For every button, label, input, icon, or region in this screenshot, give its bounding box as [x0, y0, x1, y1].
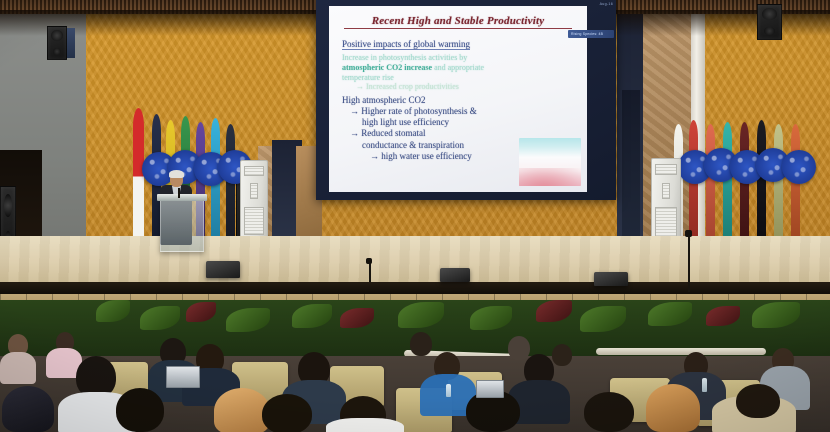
ac-right-grille-bottom — [655, 207, 676, 237]
slide-faded-line-1: Increase in photosynthesis activities by — [342, 53, 467, 62]
water-bottle-1 — [702, 378, 707, 392]
slide-subtitle: Positive impacts of global warming — [342, 39, 470, 50]
attendee-body-1 — [0, 352, 36, 384]
air-conditioner-right — [651, 158, 681, 242]
stage-monitor-center — [440, 268, 470, 282]
presentation-slide: Recent High and Stable Productivity Posi… — [329, 6, 587, 192]
right-dark-inset — [622, 90, 640, 236]
slide-highlight-co2: atmospheric CO2 increase — [342, 63, 432, 72]
podium — [160, 198, 204, 252]
auditorium-photo: Aug-16 Recent High and Stable Productivi… — [0, 0, 830, 432]
planter-curb-right — [596, 348, 766, 355]
attendee-head-15 — [262, 394, 312, 432]
attendee-laptop-2 — [476, 380, 504, 398]
slide-tag-label: Rising Species: 4B — [568, 30, 614, 38]
ac-left-grille-top — [244, 166, 264, 176]
attendee-head-14 — [116, 388, 164, 432]
projection-screen: Recent High and Stable Productivity Posi… — [329, 6, 587, 192]
ceiling-speaker-left — [47, 26, 67, 60]
ac-right-grille-top — [655, 164, 676, 175]
teal-banner — [723, 122, 732, 248]
stage-monitor-left — [206, 261, 240, 278]
slide-tag-banner: Rising Species: 4B — [568, 30, 614, 38]
podium-top-surface — [157, 194, 207, 201]
slide-corner-label: Aug-16 — [600, 2, 613, 6]
attendee-hijab-2 — [646, 384, 700, 432]
orange-banner — [791, 124, 800, 252]
ac-right-grille-mid — [662, 183, 671, 199]
podium-microphone — [178, 188, 180, 198]
attendee-head-19 — [736, 384, 780, 418]
attendee-body-16 — [326, 418, 404, 432]
slide-faded-line-2-rest: and appropriate — [432, 63, 484, 72]
ceiling-speaker-left-side — [67, 28, 75, 58]
slide-title: Recent High and Stable Productivity — [344, 15, 572, 29]
floor-mic-stand — [688, 234, 690, 292]
slide-faded-line-4: → Increased crop productivities — [356, 82, 578, 92]
coral-banner — [706, 124, 715, 248]
presenter-hair — [169, 170, 184, 178]
batik-medallion-9 — [782, 150, 816, 184]
attendee-head-6 — [552, 344, 572, 366]
air-conditioner-left — [240, 160, 268, 240]
ac-left-grille-mid — [250, 183, 258, 199]
attendee-head-5 — [508, 336, 530, 360]
ac-left-grille-bottom — [244, 207, 264, 235]
slide-faded-block: Increase in photosynthesis activities by… — [342, 53, 578, 92]
ceiling-speaker-right — [757, 4, 782, 40]
slide-diagram-image — [519, 138, 581, 186]
water-bottle-2 — [446, 384, 451, 397]
dark-banner-left — [226, 124, 235, 244]
slide-heading-2: High atmospheric CO2 — [342, 95, 578, 106]
stage-mic-stand-center — [369, 262, 371, 282]
floor-mic-head — [685, 230, 692, 237]
black-banner — [757, 120, 766, 250]
attendee-head-18 — [584, 392, 634, 432]
stage-monitor-right — [594, 272, 628, 286]
attendee-hijab-3 — [2, 386, 54, 432]
stage-mic-head-center — [366, 258, 372, 264]
maroon-banner — [740, 122, 749, 250]
slide-bullet-1a: → Higher rate of photosynthesis & — [350, 106, 578, 117]
attendee-head-4 — [410, 332, 432, 356]
olive-banner — [774, 124, 783, 250]
attendee-laptop-1 — [166, 366, 200, 388]
slide-faded-line-3: temperature rise — [342, 73, 394, 82]
slide-bullet-1b: high light use efficiency — [362, 117, 578, 128]
